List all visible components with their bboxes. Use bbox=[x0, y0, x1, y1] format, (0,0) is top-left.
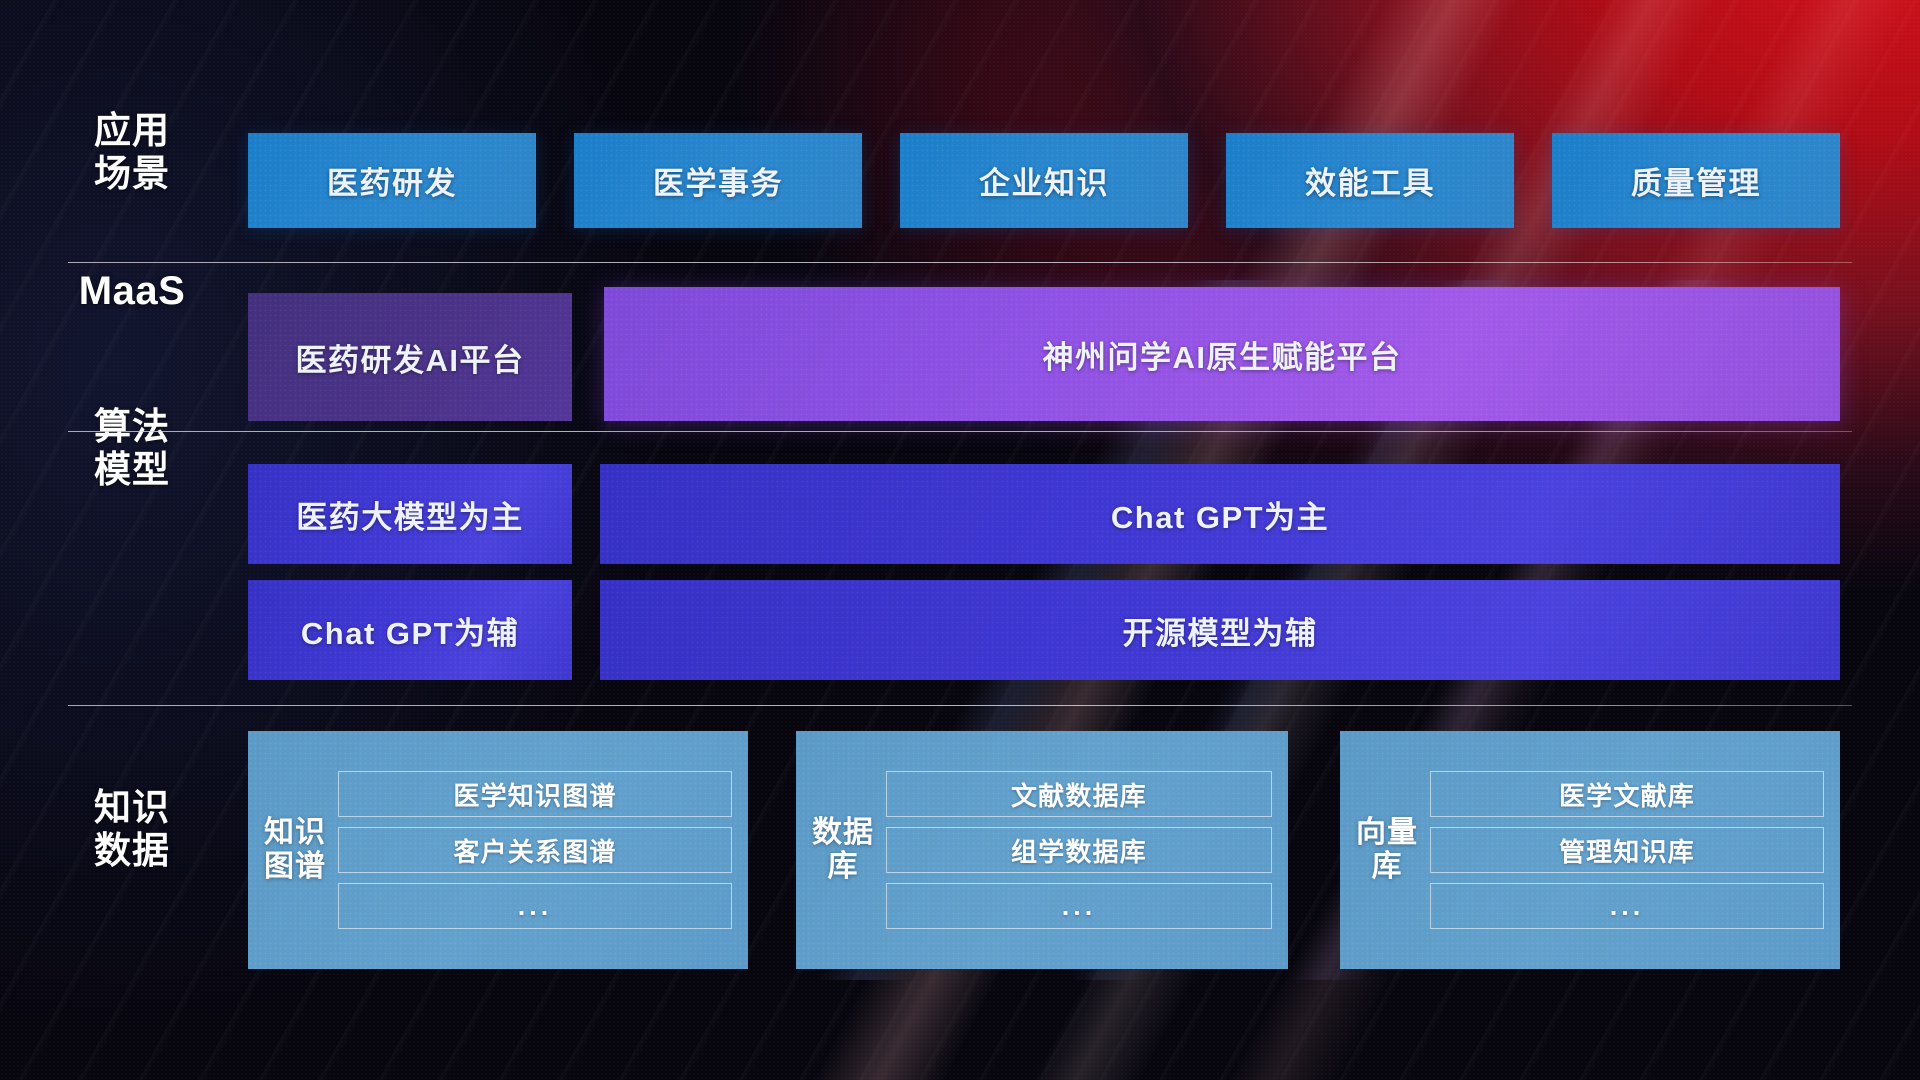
row-label-application-line2: 场景 bbox=[68, 153, 196, 196]
row-label-knowledge: 知识 数据 bbox=[68, 787, 196, 873]
architecture-diagram: 应用 场景 MaaS 算法 模型 知识 数据 医药研发 医学事务 企业知识 效能 bbox=[0, 0, 1920, 1080]
maas-platform-label-shenzhou: 神州问学AI原生赋能平台 bbox=[1043, 332, 1402, 377]
knowledge-item-vs-3[interactable]: ... bbox=[1430, 883, 1824, 929]
knowledge-item-label-kg-3: ... bbox=[518, 891, 553, 922]
app-scenario-box-3[interactable]: 企业知识 bbox=[900, 133, 1188, 228]
divider-application-maas bbox=[68, 262, 1852, 263]
divider-maas-algorithm bbox=[68, 431, 1852, 432]
app-scenario-label-1: 医药研发 bbox=[327, 158, 457, 203]
knowledge-item-label-kg-2: 客户关系图谱 bbox=[453, 832, 616, 869]
app-scenario-label-4: 效能工具 bbox=[1305, 158, 1435, 203]
maas-platform-label-medical: 医药研发AI平台 bbox=[296, 335, 525, 380]
knowledge-item-kg-1[interactable]: 医学知识图谱 bbox=[338, 771, 732, 817]
knowledge-group-items-database: 文献数据库 组学数据库 ... bbox=[880, 771, 1272, 929]
app-scenario-label-3: 企业知识 bbox=[979, 158, 1109, 203]
knowledge-group-database[interactable]: 数据库 文献数据库 组学数据库 ... bbox=[796, 731, 1288, 969]
knowledge-item-label-db-3: ... bbox=[1062, 891, 1097, 922]
app-scenario-label-5: 质量管理 bbox=[1631, 158, 1761, 203]
app-scenario-box-2[interactable]: 医学事务 bbox=[574, 133, 862, 228]
knowledge-item-label-kg-1: 医学知识图谱 bbox=[453, 776, 616, 813]
row-label-knowledge-line1: 知识 bbox=[68, 787, 196, 830]
knowledge-group-title-database: 数据库 bbox=[806, 816, 880, 883]
row-label-algorithm-line2: 模型 bbox=[68, 449, 196, 492]
knowledge-item-label-vs-1: 医学文献库 bbox=[1559, 776, 1695, 813]
row-label-knowledge-line2: 数据 bbox=[68, 830, 196, 873]
maas-platform-box-medical[interactable]: 医药研发AI平台 bbox=[248, 293, 572, 421]
knowledge-item-label-vs-2: 管理知识库 bbox=[1559, 832, 1695, 869]
row-label-application-line1: 应用 bbox=[68, 110, 196, 153]
algorithm-box-chatgpt-secondary[interactable]: Chat GPT为辅 bbox=[248, 580, 572, 680]
knowledge-item-kg-2[interactable]: 客户关系图谱 bbox=[338, 827, 732, 873]
algorithm-label-medical-primary: 医药大模型为主 bbox=[296, 492, 524, 537]
divider-algorithm-knowledge bbox=[68, 705, 1852, 706]
knowledge-item-db-3[interactable]: ... bbox=[886, 883, 1272, 929]
knowledge-group-items-knowledge-graph: 医学知识图谱 客户关系图谱 ... bbox=[332, 771, 732, 929]
row-label-maas-line1: MaaS bbox=[68, 268, 196, 314]
knowledge-item-vs-1[interactable]: 医学文献库 bbox=[1430, 771, 1824, 817]
knowledge-group-vector-store[interactable]: 向量库 医学文献库 管理知识库 ... bbox=[1340, 731, 1840, 969]
row-label-maas: MaaS bbox=[68, 268, 196, 314]
diagram-content: 应用 场景 MaaS 算法 模型 知识 数据 医药研发 医学事务 企业知识 效能 bbox=[0, 0, 1920, 1080]
algorithm-box-opensource-secondary[interactable]: 开源模型为辅 bbox=[600, 580, 1840, 680]
knowledge-item-label-db-2: 组学数据库 bbox=[1011, 832, 1147, 869]
algorithm-label-chatgpt-primary: Chat GPT为主 bbox=[1111, 492, 1329, 537]
knowledge-group-items-vector-store: 医学文献库 管理知识库 ... bbox=[1424, 771, 1824, 929]
knowledge-item-db-2[interactable]: 组学数据库 bbox=[886, 827, 1272, 873]
knowledge-group-title-vector-store: 向量库 bbox=[1350, 816, 1424, 883]
maas-platform-box-shenzhou[interactable]: 神州问学AI原生赋能平台 bbox=[604, 287, 1840, 421]
knowledge-group-knowledge-graph[interactable]: 知识图谱 医学知识图谱 客户关系图谱 ... bbox=[248, 731, 748, 969]
app-scenario-box-4[interactable]: 效能工具 bbox=[1226, 133, 1514, 228]
knowledge-item-kg-3[interactable]: ... bbox=[338, 883, 732, 929]
row-label-algorithm-line1: 算法 bbox=[68, 406, 196, 449]
algorithm-box-chatgpt-primary[interactable]: Chat GPT为主 bbox=[600, 464, 1840, 564]
knowledge-item-label-vs-3: ... bbox=[1610, 891, 1645, 922]
row-label-algorithm: 算法 模型 bbox=[68, 406, 196, 492]
knowledge-item-vs-2[interactable]: 管理知识库 bbox=[1430, 827, 1824, 873]
knowledge-group-title-knowledge-graph: 知识图谱 bbox=[258, 816, 332, 883]
algorithm-box-medical-primary[interactable]: 医药大模型为主 bbox=[248, 464, 572, 564]
knowledge-item-db-1[interactable]: 文献数据库 bbox=[886, 771, 1272, 817]
algorithm-label-chatgpt-secondary: Chat GPT为辅 bbox=[301, 608, 519, 653]
app-scenario-label-2: 医学事务 bbox=[653, 158, 783, 203]
row-label-application: 应用 场景 bbox=[68, 110, 196, 196]
algorithm-label-opensource-secondary: 开源模型为辅 bbox=[1123, 608, 1318, 653]
knowledge-item-label-db-1: 文献数据库 bbox=[1011, 776, 1147, 813]
app-scenario-box-5[interactable]: 质量管理 bbox=[1552, 133, 1840, 228]
app-scenario-box-1[interactable]: 医药研发 bbox=[248, 133, 536, 228]
